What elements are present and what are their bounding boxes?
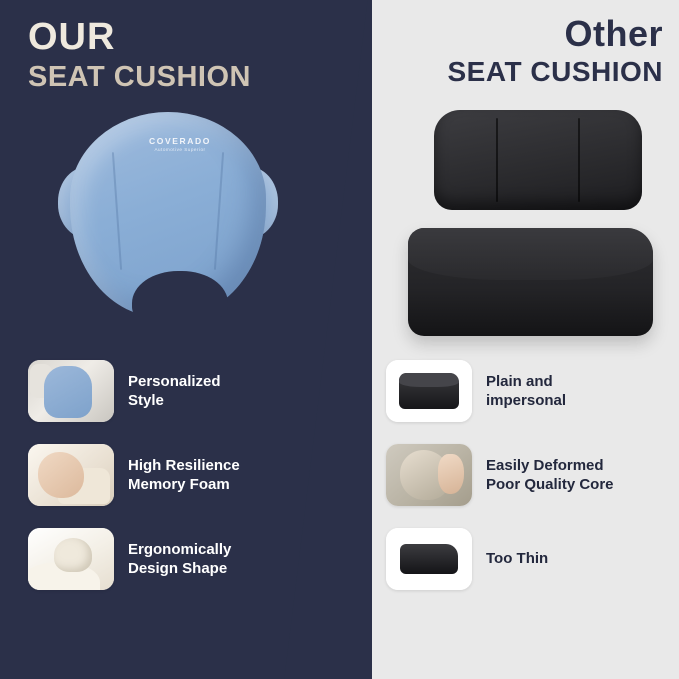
our-product-panel: OUR SEAT CUSHION COVERADO Automotive Sup… bbox=[0, 0, 372, 679]
pillow-channel-right bbox=[578, 118, 580, 202]
feature-label: Plain and impersonal bbox=[486, 372, 566, 410]
plain-black-cushion-thumb bbox=[386, 360, 472, 422]
feature-label-line1: Ergonomically bbox=[128, 540, 231, 559]
thin-black-cushion-thumb bbox=[386, 528, 472, 590]
our-heading-line1: OUR bbox=[28, 16, 251, 59]
other-product-panel: Other SEAT CUSHION bbox=[372, 0, 679, 679]
black-seat-pad bbox=[408, 228, 653, 336]
feature-label: Too Thin bbox=[486, 549, 548, 568]
feature-label-line1: Too Thin bbox=[486, 549, 548, 568]
thin-cushion-icon bbox=[386, 528, 472, 590]
other-feature-list: Plain and impersonal Easily Deformed Poo… bbox=[386, 360, 678, 612]
black-back-pillow bbox=[434, 110, 642, 210]
foam-contour-thumb bbox=[28, 528, 114, 590]
list-item: High Resilience Memory Foam bbox=[28, 444, 328, 506]
hand-shape bbox=[38, 452, 84, 498]
cushion-seam-right bbox=[214, 152, 224, 270]
feature-label-line2: impersonal bbox=[486, 391, 566, 410]
hand-pressing-foam-thumb bbox=[28, 444, 114, 506]
product-comparison-graphic: OUR SEAT CUSHION COVERADO Automotive Sup… bbox=[0, 0, 679, 679]
feature-label-line1: Easily Deformed bbox=[486, 456, 614, 475]
other-product-panel-content: Other SEAT CUSHION bbox=[372, 0, 679, 679]
list-item: Plain and impersonal bbox=[386, 360, 678, 422]
list-item: Easily Deformed Poor Quality Core bbox=[386, 444, 678, 506]
cushion-seam-left bbox=[112, 152, 122, 270]
cushion-body: COVERADO Automotive Superior bbox=[70, 112, 266, 317]
other-heading-line2: SEAT CUSHION bbox=[372, 56, 663, 87]
feature-label: Ergonomically Design Shape bbox=[128, 540, 231, 578]
deformed-foam-icon bbox=[386, 444, 472, 506]
ergonomic-shape-icon bbox=[28, 528, 114, 590]
list-item: Personalized Style bbox=[28, 360, 328, 422]
other-heading-line1: Other bbox=[372, 14, 663, 54]
seat-pad-top-face bbox=[408, 228, 653, 280]
black-pad-shape bbox=[399, 373, 459, 409]
feature-label-line1: High Resilience bbox=[128, 456, 240, 475]
finger-shape bbox=[438, 454, 464, 494]
plain-cushion-icon bbox=[386, 360, 472, 422]
feature-label: Easily Deformed Poor Quality Core bbox=[486, 456, 614, 494]
feature-label-line1: Personalized bbox=[128, 372, 221, 391]
feature-label-line2: Poor Quality Core bbox=[486, 475, 614, 494]
feature-label-line2: Design Shape bbox=[128, 559, 231, 578]
other-heading: Other SEAT CUSHION bbox=[372, 14, 663, 88]
other-cushion-hero-image bbox=[408, 110, 653, 340]
our-feature-list: Personalized Style High Resilience Memor… bbox=[28, 360, 328, 612]
blue-cushion-shape bbox=[44, 366, 92, 418]
feature-label-line2: Style bbox=[128, 391, 221, 410]
list-item: Ergonomically Design Shape bbox=[28, 528, 328, 590]
our-product-panel-content: OUR SEAT CUSHION COVERADO Automotive Sup… bbox=[0, 0, 372, 679]
feature-label: High Resilience Memory Foam bbox=[128, 456, 240, 494]
feature-label-line2: Memory Foam bbox=[128, 475, 240, 494]
foam-press-icon bbox=[28, 444, 114, 506]
deformed-foam-thumb bbox=[386, 444, 472, 506]
brand-tagline: Automotive Superior bbox=[134, 147, 226, 153]
car-seat-cushion-thumb bbox=[28, 360, 114, 422]
list-item: Too Thin bbox=[386, 528, 678, 590]
car-interior-icon bbox=[28, 360, 114, 422]
brand-name: COVERADO bbox=[134, 136, 226, 147]
cushion-bottom-notch bbox=[132, 271, 228, 317]
our-cushion-hero-image: COVERADO Automotive Superior bbox=[58, 108, 278, 323]
brand-label: COVERADO Automotive Superior bbox=[134, 136, 226, 152]
foam-bump-shape bbox=[54, 538, 92, 572]
thin-pad-shape bbox=[400, 544, 458, 574]
pillow-channel-left bbox=[496, 118, 498, 202]
our-heading-line2: SEAT CUSHION bbox=[28, 61, 251, 93]
feature-label-line1: Plain and bbox=[486, 372, 566, 391]
our-heading: OUR SEAT CUSHION bbox=[28, 16, 251, 93]
feature-label: Personalized Style bbox=[128, 372, 221, 410]
